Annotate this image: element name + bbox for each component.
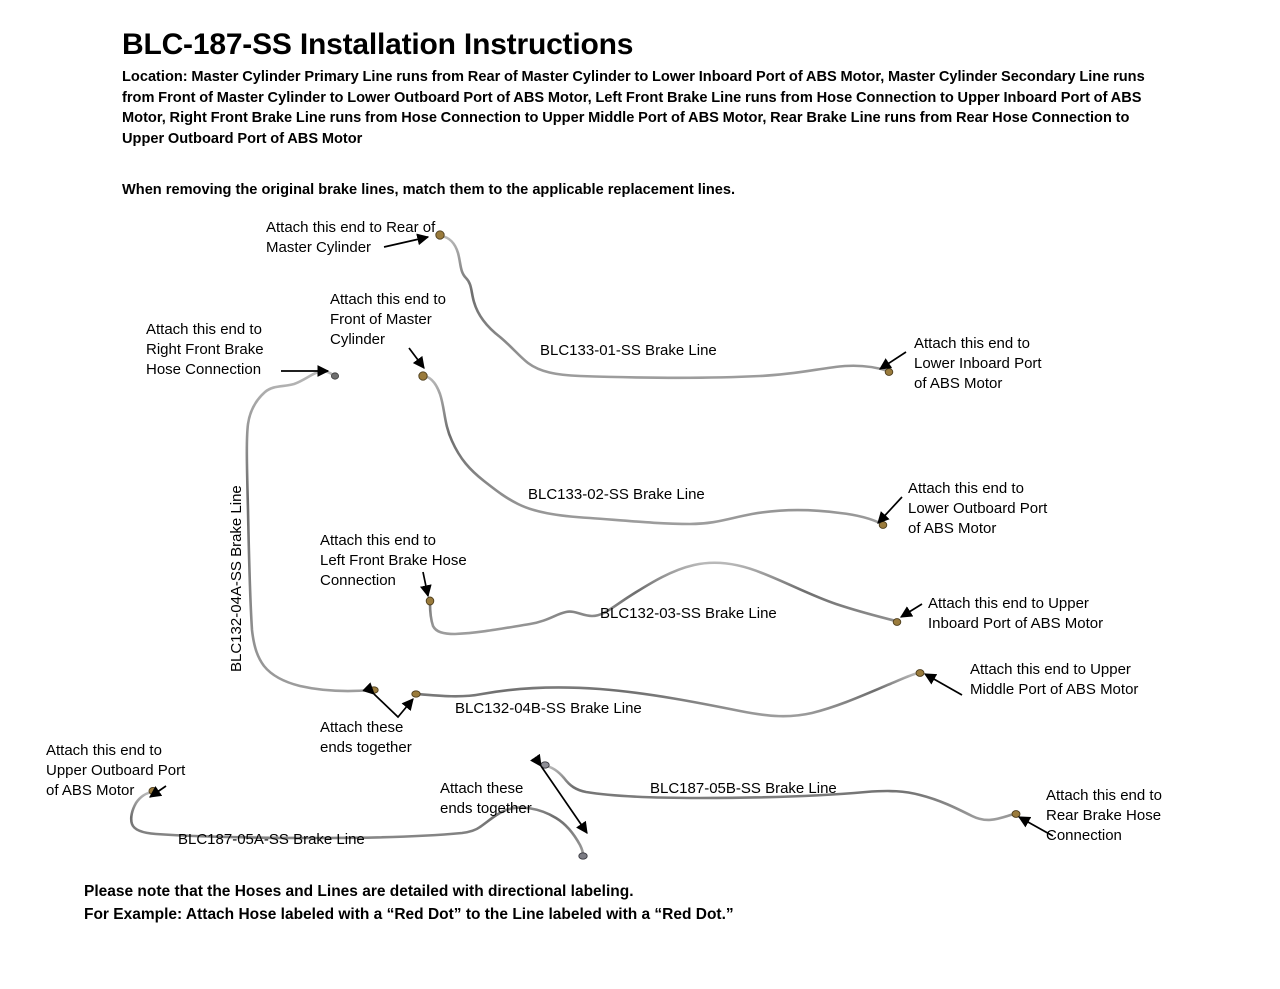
line-label-blc132-04a: BLC132-04A-SS Brake Line <box>228 485 245 672</box>
line-label-blc132-03: BLC132-03-SS Brake Line <box>600 604 777 624</box>
fitting-blc132-04b-start <box>412 691 420 697</box>
line-label-blc133-01: BLC133-01-SS Brake Line <box>540 341 717 361</box>
callout-front-master-cylinder: Attach this end to Front of Master Cylin… <box>330 290 446 350</box>
brake-line-tubes <box>131 236 1014 855</box>
line-label-blc187-05b: BLC187-05B-SS Brake Line <box>650 779 837 799</box>
callout-ends-together-2: Attach these ends together <box>440 779 532 819</box>
footer-line-2: For Example: Attach Hose labeled with a … <box>84 903 734 926</box>
line-label-blc133-02: BLC133-02-SS Brake Line <box>528 485 705 505</box>
callout-ends-together-1: Attach these ends together <box>320 718 412 758</box>
arrow-front-master-cylinder <box>409 348 424 368</box>
callout-upper-inboard-port: Attach this end to Upper Inboard Port of… <box>928 594 1103 634</box>
line-label-blc132-04b: BLC132-04B-SS Brake Line <box>455 699 642 719</box>
brake-line-fittings <box>149 231 1020 859</box>
arrow-lower-outboard-port <box>878 497 902 523</box>
arrow-ends-together-1 <box>374 694 413 717</box>
fitting-blc133-01-end <box>885 369 893 376</box>
callout-lower-inboard-port: Attach this end to Lower Inboard Port of… <box>914 334 1042 394</box>
fitting-blc187-05a-end <box>579 853 587 859</box>
fitting-blc133-02-end <box>879 522 887 529</box>
fitting-blc133-01-start <box>436 231 444 239</box>
fitting-blc132-03-start <box>426 597 434 605</box>
callout-left-front-hose: Attach this end to Left Front Brake Hose… <box>320 531 467 591</box>
callout-rear-master-cylinder: Attach this end to Rear of Master Cylind… <box>266 218 435 258</box>
footer-note: Please note that the Hoses and Lines are… <box>84 880 734 927</box>
fitting-blc133-02-start <box>419 372 427 380</box>
arrow-lower-inboard-port <box>880 352 906 369</box>
callout-rear-brake-hose: Attach this end to Rear Brake Hose Conne… <box>1046 786 1162 846</box>
fitting-blc132-03-end <box>893 619 901 626</box>
footer-line-1: Please note that the Hoses and Lines are… <box>84 880 734 903</box>
fitting-blc187-05b-end <box>1012 811 1020 818</box>
fitting-blc132-04b-end <box>916 670 924 677</box>
line-label-blc187-05a: BLC187-05A-SS Brake Line <box>178 830 365 850</box>
arrow-upper-middle-port <box>925 674 962 695</box>
installation-instructions-page: BLC-187-SS Installation Instructions Loc… <box>0 0 1280 989</box>
callout-lower-outboard-port: Attach this end to Lower Outboard Port o… <box>908 479 1047 539</box>
brake-line-diagram: Attach this end to Rear of Master Cylind… <box>0 0 1280 989</box>
arrow-upper-inboard-port <box>901 604 922 617</box>
callout-upper-outboard-port: Attach this end to Upper Outboard Port o… <box>46 741 185 801</box>
fitting-blc132-04a-start <box>331 373 338 379</box>
fitting-blc132-04a-end <box>370 687 378 693</box>
callout-right-front-hose: Attach this end to Right Front Brake Hos… <box>146 320 264 380</box>
callout-upper-middle-port: Attach this end to Upper Middle Port of … <box>970 660 1138 700</box>
